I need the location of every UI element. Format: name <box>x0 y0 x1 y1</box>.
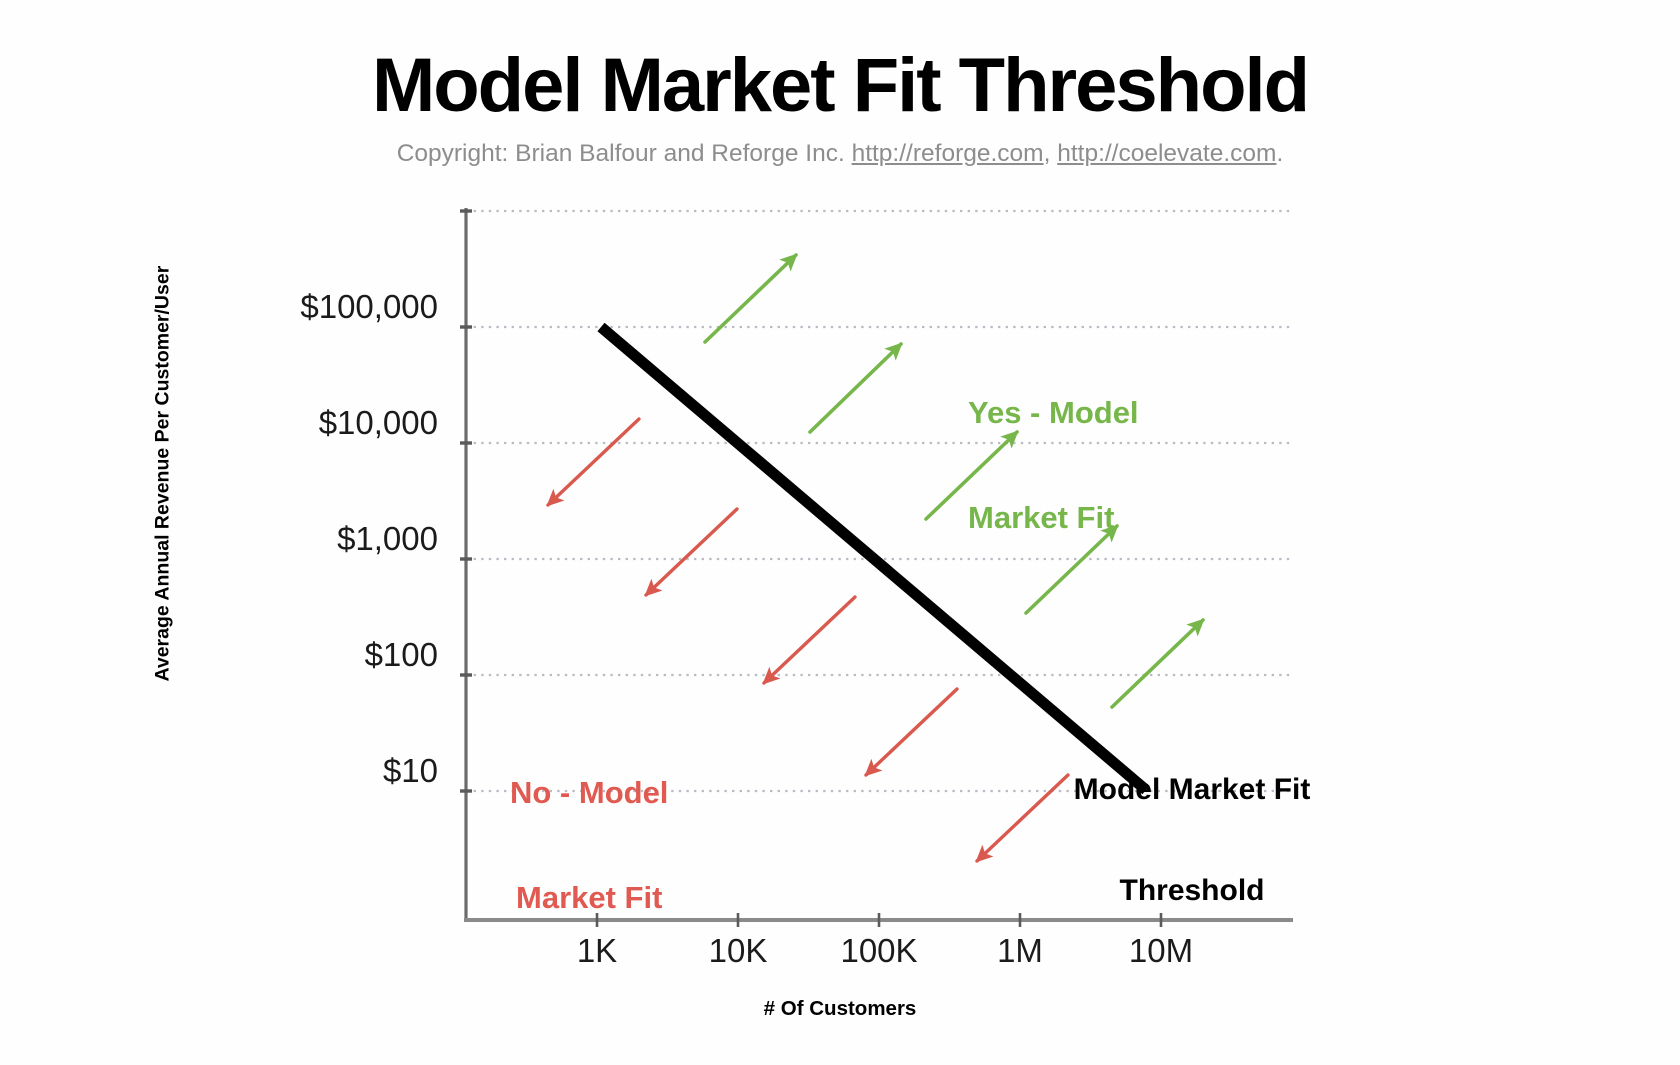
y-tick-label-1000: $1,000 <box>268 520 438 558</box>
x-tick-label-10k: 10K <box>709 932 768 970</box>
y-tick-label-100: $100 <box>268 636 438 674</box>
x-tick-label-1m: 1M <box>997 932 1043 970</box>
red-arrow-5 <box>977 775 1068 861</box>
red-arrow-1 <box>548 419 639 505</box>
slide-canvas: Model Market Fit Threshold Copyright: Br… <box>0 0 1680 1065</box>
annotation-yes-model-market-fit: Yes - Model Market Fit <box>968 325 1139 605</box>
gridlines-horizontal <box>466 211 1293 791</box>
y-axis-title: Average Annual Revenue Per Customer/User <box>152 282 175 682</box>
green-arrow-5 <box>1112 620 1203 707</box>
annotation-threshold-line1: Model Market Fit <box>1074 773 1311 807</box>
annotation-yes-line2: Market Fit <box>968 500 1139 535</box>
y-tick-label-100000: $100,000 <box>268 288 438 326</box>
x-axis-title: # Of Customers <box>0 997 1680 1021</box>
red-arrow-3 <box>764 597 855 683</box>
annotation-no-line2: Market Fit <box>510 880 668 915</box>
green-arrow-2 <box>810 344 901 432</box>
green-arrow-1 <box>705 255 796 342</box>
annotation-yes-line1: Yes - Model <box>968 395 1139 430</box>
y-tick-label-10000: $10,000 <box>268 404 438 442</box>
annotation-threshold-line2: Threshold <box>1074 874 1311 908</box>
y-tick-label-10: $10 <box>268 752 438 790</box>
x-tick-label-100k: 100K <box>840 932 917 970</box>
red-arrow-2 <box>646 509 737 595</box>
annotation-no-line1: No - Model <box>510 775 668 810</box>
red-arrow-4 <box>866 689 957 775</box>
annotation-threshold-label: Model Market Fit Threshold <box>1074 705 1311 976</box>
plot-area <box>0 0 1680 1065</box>
annotation-no-model-market-fit: No - Model Market Fit <box>510 705 668 985</box>
